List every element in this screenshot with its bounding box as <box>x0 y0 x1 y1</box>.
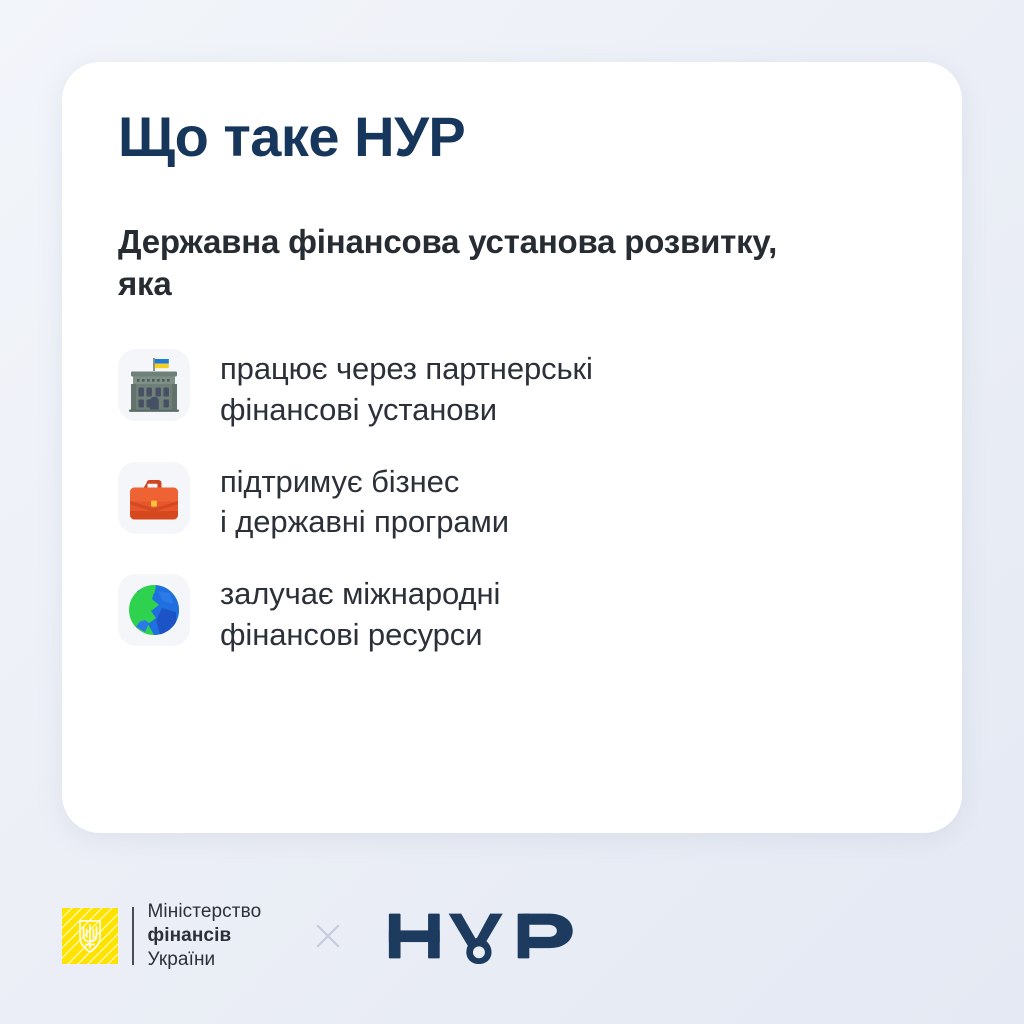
list-item: працює через партнерські фінансові устан… <box>118 347 906 430</box>
poster-page: Що таке НУР Державна фінансова установа … <box>0 0 1024 1024</box>
nur-logo <box>387 905 583 967</box>
feature-line-1: підтримує бізнес <box>220 462 509 502</box>
feature-list: працює через партнерські фінансові устан… <box>118 347 906 655</box>
feature-line-2: і державні програми <box>220 502 509 542</box>
ukraine-trident-emblem-icon <box>62 908 118 964</box>
subtitle-line-1: Державна фінансова установа <box>118 223 615 260</box>
content-card: Що таке НУР Державна фінансова установа … <box>62 62 962 833</box>
ministry-line-1: Міністерство <box>148 900 262 924</box>
feature-text: залучає міжнародні фінансові ресурси <box>220 572 500 655</box>
feature-line-2: фінансові ресурси <box>220 615 500 655</box>
briefcase-icon <box>118 462 190 534</box>
ministry-line-3: України <box>148 948 262 972</box>
feature-line-2: фінансові установи <box>220 390 593 430</box>
footer-logo-bar: Міністерство фінансів України <box>62 888 583 984</box>
feature-text: підтримує бізнес і державні програми <box>220 460 509 543</box>
ministry-of-finance-logo: Міністерство фінансів України <box>62 900 261 973</box>
feature-text: працює через партнерські фінансові устан… <box>220 347 593 430</box>
card-subtitle: Державна фінансова установа розвитку, як… <box>118 221 778 305</box>
globe-icon <box>118 574 190 646</box>
government-building-icon <box>118 349 190 421</box>
feature-line-1: залучає міжнародні <box>220 574 500 614</box>
ministry-line-2: фінансів <box>148 924 262 948</box>
feature-line-1: працює через партнерські <box>220 349 593 389</box>
ministry-wordmark: Міністерство фінансів України <box>148 900 262 973</box>
list-item: підтримує бізнес і державні програми <box>118 460 906 543</box>
logo-separator-x-icon <box>313 921 343 951</box>
list-item: залучає міжнародні фінансові ресурси <box>118 572 906 655</box>
ministry-logo-divider <box>132 907 134 965</box>
page-title: Що таке НУР <box>118 108 906 167</box>
